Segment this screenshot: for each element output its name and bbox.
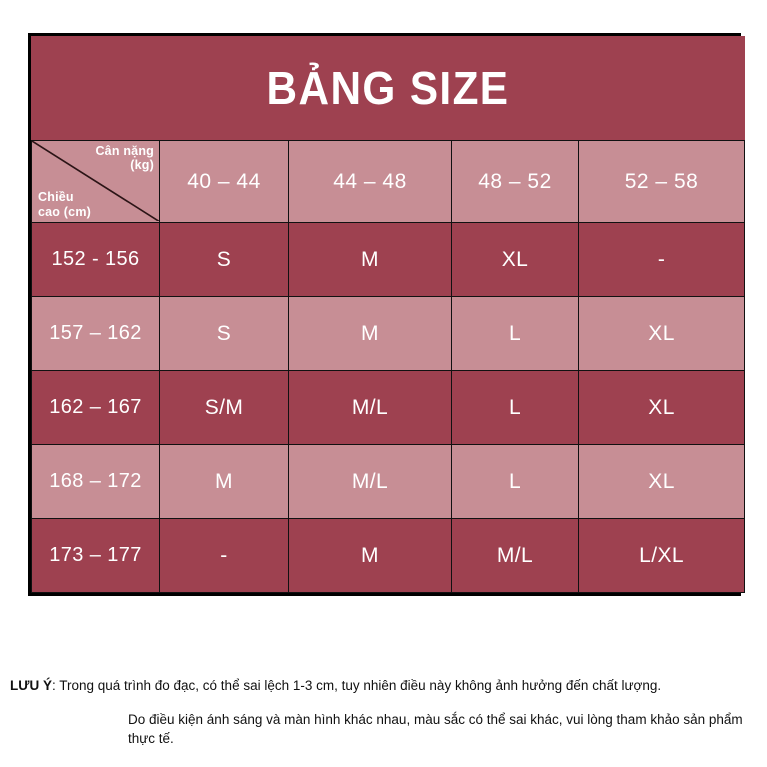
size-cell: L/XL bbox=[579, 519, 745, 593]
size-cell: M/L bbox=[452, 519, 579, 593]
table-row: 173 – 177 - M M/L L/XL bbox=[32, 519, 745, 593]
table-row: 157 – 162 S M L XL bbox=[32, 297, 745, 371]
size-cell: M bbox=[160, 445, 289, 519]
column-header-weight-2: 44 – 48 bbox=[289, 141, 452, 223]
size-cell: XL bbox=[579, 445, 745, 519]
notes-section: LƯU Ý: Trong quá trình đo đạc, có thể sa… bbox=[10, 676, 760, 749]
table-title-row: BẢNG SIZE bbox=[32, 36, 745, 141]
size-cell: M/L bbox=[289, 445, 452, 519]
size-cell: M bbox=[289, 223, 452, 297]
corner-axis-cell: Cân nặng (kg) Chiều cao (cm) bbox=[32, 141, 160, 223]
size-cell: XL bbox=[579, 297, 745, 371]
size-cell: L bbox=[452, 445, 579, 519]
size-chart-page: BẢNG SIZE Cân nặng (kg) bbox=[0, 0, 767, 767]
size-cell: S/M bbox=[160, 371, 289, 445]
size-cell: XL bbox=[452, 223, 579, 297]
page-title: BẢNG SIZE bbox=[267, 65, 510, 111]
size-cell: - bbox=[160, 519, 289, 593]
weight-axis-label-text: Cân nặng bbox=[95, 144, 154, 158]
column-header-weight-3: 48 – 52 bbox=[452, 141, 579, 223]
height-axis-label: Chiều cao (cm) bbox=[38, 190, 91, 219]
row-header-height: 173 – 177 bbox=[32, 519, 160, 593]
note-line-1-text: : Trong quá trình đo đạc, có thể sai lệc… bbox=[52, 678, 661, 693]
row-header-height: 157 – 162 bbox=[32, 297, 160, 371]
table-row: 152 - 156 S M XL - bbox=[32, 223, 745, 297]
title-cell: BẢNG SIZE bbox=[32, 36, 745, 141]
size-cell: XL bbox=[579, 371, 745, 445]
table-header-row: Cân nặng (kg) Chiều cao (cm) 40 – 44 44 … bbox=[32, 141, 745, 223]
table-row: 162 – 167 S/M M/L L XL bbox=[32, 371, 745, 445]
size-cell: - bbox=[579, 223, 745, 297]
note-line-1: LƯU Ý: Trong quá trình đo đạc, có thể sa… bbox=[10, 676, 760, 696]
weight-axis-unit-text: (kg) bbox=[130, 158, 154, 172]
row-header-height: 152 - 156 bbox=[32, 223, 160, 297]
note-label-luu-y: LƯU Ý bbox=[10, 678, 52, 693]
size-cell: M bbox=[289, 519, 452, 593]
column-header-weight-1: 40 – 44 bbox=[160, 141, 289, 223]
size-cell: S bbox=[160, 223, 289, 297]
row-header-height: 162 – 167 bbox=[32, 371, 160, 445]
weight-axis-label: Cân nặng (kg) bbox=[95, 144, 154, 173]
size-chart-table: BẢNG SIZE Cân nặng (kg) bbox=[31, 36, 745, 593]
note-line-2: Do điều kiện ánh sáng và màn hình khác n… bbox=[128, 710, 760, 749]
row-header-height: 168 – 172 bbox=[32, 445, 160, 519]
height-axis-unit-text: cao (cm) bbox=[38, 205, 91, 219]
height-axis-label-text: Chiều bbox=[38, 190, 74, 204]
column-header-weight-4: 52 – 58 bbox=[579, 141, 745, 223]
size-cell: M bbox=[289, 297, 452, 371]
size-cell: L bbox=[452, 297, 579, 371]
size-cell: M/L bbox=[289, 371, 452, 445]
size-cell: L bbox=[452, 371, 579, 445]
table-row: 168 – 172 M M/L L XL bbox=[32, 445, 745, 519]
size-cell: S bbox=[160, 297, 289, 371]
size-chart-table-container: BẢNG SIZE Cân nặng (kg) bbox=[28, 33, 741, 596]
